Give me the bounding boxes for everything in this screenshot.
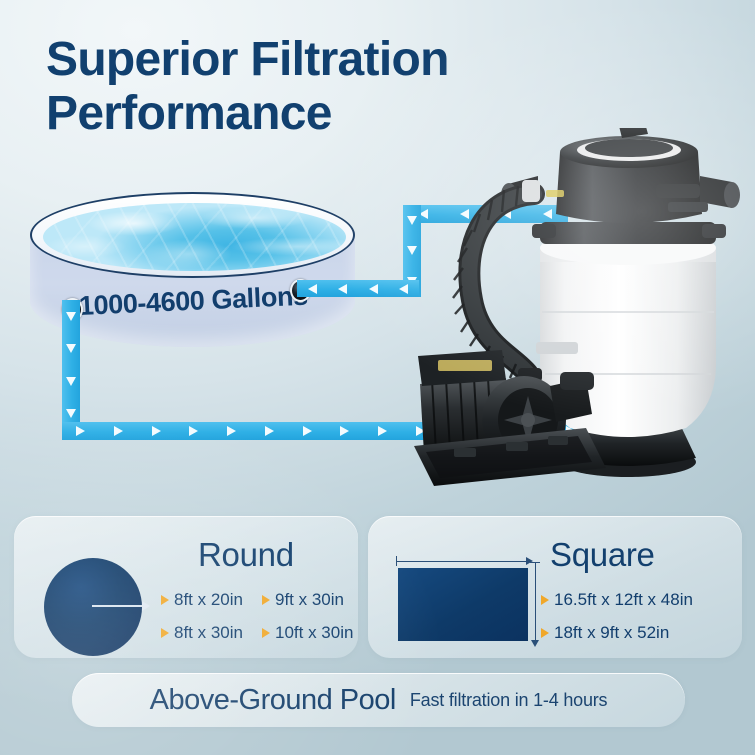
circle-shape-icon (44, 558, 142, 656)
chevron-right-icon (378, 426, 387, 436)
chevron-right-icon (227, 426, 236, 436)
flow-pipe-suction-down (62, 300, 80, 430)
footer-subtitle: Fast filtration in 1-4 hours (410, 690, 608, 711)
round-spec-label: 8ft x 20in (174, 590, 243, 610)
flow-pipe-return-to-pool (297, 280, 419, 297)
square-spec-label: 18ft x 9ft x 52in (554, 623, 669, 643)
height-arrow-icon (535, 562, 536, 642)
footer-title: Above-Ground Pool (150, 684, 396, 717)
radius-arrow-head-icon (142, 601, 150, 611)
chevron-down-icon (66, 409, 76, 418)
height-arrow-head-icon (531, 640, 539, 647)
width-arrow-icon (396, 561, 528, 562)
flow-arrows-down (62, 300, 80, 430)
triangle-bullet-icon (262, 628, 270, 638)
chevron-left-icon (338, 284, 347, 294)
round-section-title: Round (198, 536, 294, 574)
rectangle-shape-icon (398, 568, 528, 641)
chevron-right-icon (189, 426, 198, 436)
chevron-right-icon (340, 426, 349, 436)
flow-arrows-left-return (297, 280, 419, 297)
pool-water-icon (43, 203, 346, 271)
chevron-left-icon (399, 284, 408, 294)
width-arrow-head-icon (526, 557, 533, 565)
chevron-right-icon (114, 426, 123, 436)
round-spec-item: 8ft x 20in (161, 590, 243, 610)
square-spec-label: 16.5ft x 12ft x 48in (554, 590, 693, 610)
footer-banner: Above-Ground Pool Fast filtration in 1-4… (72, 673, 685, 727)
round-spec-label: 8ft x 30in (174, 623, 243, 643)
height-arrow-cap-icon (530, 562, 540, 563)
chevron-right-icon (303, 426, 312, 436)
triangle-bullet-icon (541, 628, 549, 638)
triangle-bullet-icon (262, 595, 270, 605)
infographic-canvas: Superior Filtration Performance 1000-460… (0, 0, 755, 755)
chevron-left-icon (308, 284, 317, 294)
sand-filter-pump-svg (410, 128, 750, 498)
chevron-down-icon (66, 377, 76, 386)
round-spec-item: 10ft x 30in (262, 623, 353, 643)
square-section-title: Square (550, 536, 655, 574)
width-arrow-cap-icon (396, 556, 397, 566)
square-spec-item: 16.5ft x 12ft x 48in (541, 590, 693, 610)
triangle-bullet-icon (541, 595, 549, 605)
round-spec-item: 8ft x 30in (161, 623, 243, 643)
pool-rim (30, 192, 355, 278)
round-spec-item: 9ft x 30in (262, 590, 344, 610)
square-spec-item: 18ft x 9ft x 52in (541, 623, 669, 643)
chevron-down-icon (66, 312, 76, 321)
sand-filter-pump-illustration (410, 128, 750, 498)
chevron-left-icon (369, 284, 378, 294)
chevron-down-icon (66, 344, 76, 353)
triangle-bullet-icon (161, 595, 169, 605)
radius-arrow-icon (92, 605, 144, 607)
round-spec-label: 10ft x 30in (275, 623, 353, 643)
page-title: Superior Filtration Performance (46, 33, 646, 141)
chevron-right-icon (265, 426, 274, 436)
round-spec-label: 9ft x 30in (275, 590, 344, 610)
chevron-right-icon (76, 426, 85, 436)
chevron-right-icon (152, 426, 161, 436)
triangle-bullet-icon (161, 628, 169, 638)
